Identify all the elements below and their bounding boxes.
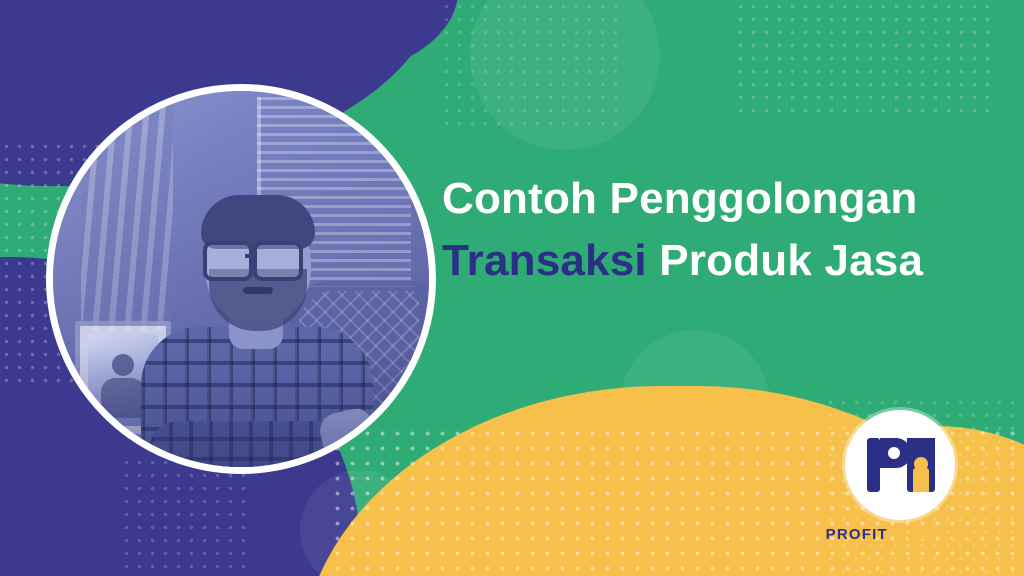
- brand-logo: PROFIT MASTERY: [814, 410, 986, 552]
- slide-canvas: Contoh Penggolongan Transaksi Produk Jas…: [0, 0, 1024, 576]
- photo-curtain: [81, 91, 173, 331]
- logo-wordmark: PROFIT MASTERY: [814, 526, 986, 543]
- photo-vignette: [53, 347, 429, 467]
- title-highlight-word: Transaksi: [442, 236, 647, 285]
- photo-person-mouth: [243, 287, 273, 294]
- portrait-photo: [53, 91, 429, 467]
- photo-person-glasses-bridge: [245, 254, 257, 258]
- logo-word-profit: PROFIT: [826, 526, 888, 543]
- logo-word-mastery: MASTERY: [888, 526, 975, 543]
- logo-badge: [845, 410, 955, 520]
- photo-person-glasses-right: [253, 241, 303, 281]
- title-line-1: Contoh Penggolongan: [442, 168, 1002, 230]
- photo-person-glasses-left: [203, 241, 253, 281]
- title-line-2-rest: Produk Jasa: [647, 236, 923, 285]
- avatar: [46, 84, 436, 474]
- title-line-1-text: Contoh Penggolongan: [442, 174, 918, 223]
- logo-monogram-icon: [845, 410, 955, 520]
- title-line-2: Transaksi Produk Jasa: [442, 230, 1002, 292]
- page-title: Contoh Penggolongan Transaksi Produk Jas…: [442, 168, 1002, 293]
